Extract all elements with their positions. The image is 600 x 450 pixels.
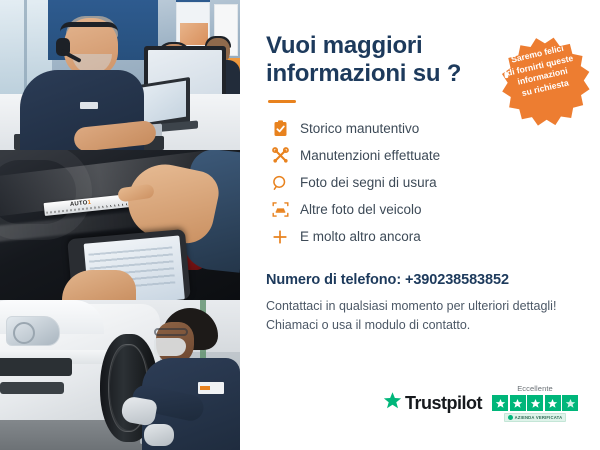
car-inspection-ruler-photo: AUTO1 bbox=[0, 150, 240, 300]
list-item: Altre foto del veicolo bbox=[268, 196, 574, 223]
car-lower-grille bbox=[0, 382, 64, 394]
list-item: Manutenzioni effettuate bbox=[268, 142, 574, 169]
list-item-label: E molto altro ancora bbox=[300, 229, 421, 244]
star-filled bbox=[492, 395, 508, 411]
rating-label: Eccellente bbox=[517, 384, 553, 393]
contact-subtext-line-2: Chiamaci o usa il modulo di contatto. bbox=[266, 316, 574, 335]
star-filled bbox=[545, 395, 561, 411]
trustpilot-star-icon bbox=[383, 391, 402, 415]
info-panel: Vuoi maggiori informazioni su ? Storico … bbox=[240, 0, 600, 450]
star-rating bbox=[492, 395, 578, 411]
list-item: E molto altro ancora bbox=[268, 223, 574, 250]
star-partial bbox=[562, 395, 578, 411]
list-item-label: Foto dei segni di usura bbox=[300, 175, 437, 190]
contact-subtext: Contattaci in qualsiasi momento per ulte… bbox=[266, 297, 574, 335]
magnifier-icon bbox=[268, 172, 292, 194]
title-divider bbox=[268, 100, 296, 103]
plus-icon bbox=[268, 226, 292, 248]
trustpilot-rating: Eccellente bbox=[492, 384, 578, 422]
verified-label: AZIENDA VERIFICATA bbox=[515, 415, 563, 420]
car-photo-frame-icon bbox=[268, 199, 292, 221]
foreground-agent bbox=[20, 18, 144, 150]
call-center-agents-photo bbox=[0, 0, 240, 150]
mechanic-wheel-photo bbox=[0, 300, 240, 450]
request-info-badge: Saremo felici di fornirti queste informa… bbox=[485, 29, 600, 148]
info-request-banner: AUTO1 bbox=[0, 0, 600, 450]
car-grille bbox=[0, 358, 72, 376]
star-filled bbox=[527, 395, 543, 411]
star-filled bbox=[510, 395, 526, 411]
list-item-label: Altre foto del veicolo bbox=[300, 202, 422, 217]
verified-business-badge: AZIENDA VERIFICATA bbox=[504, 413, 567, 422]
trustpilot-wordmark: Trustpilot bbox=[405, 393, 482, 414]
trustpilot-logo: Trustpilot bbox=[383, 391, 482, 415]
contact-subtext-line-1: Contattaci in qualsiasi momento per ulte… bbox=[266, 297, 574, 316]
clipboard-check-icon bbox=[268, 118, 292, 140]
mechanic bbox=[136, 308, 240, 450]
list-item-label: Manutenzioni effettuate bbox=[300, 148, 440, 163]
verified-check-icon bbox=[508, 415, 513, 420]
list-item: Foto dei segni di usura bbox=[268, 169, 574, 196]
list-item-label: Storico manutentivo bbox=[300, 121, 419, 136]
car-headlight bbox=[6, 316, 60, 346]
tools-cross-icon bbox=[268, 145, 292, 167]
photo-collage: AUTO1 bbox=[0, 0, 240, 450]
trustpilot-widget[interactable]: Trustpilot Eccellente bbox=[383, 384, 578, 422]
phone-number-line: Numero di telefono: +390238583852 bbox=[266, 272, 574, 288]
